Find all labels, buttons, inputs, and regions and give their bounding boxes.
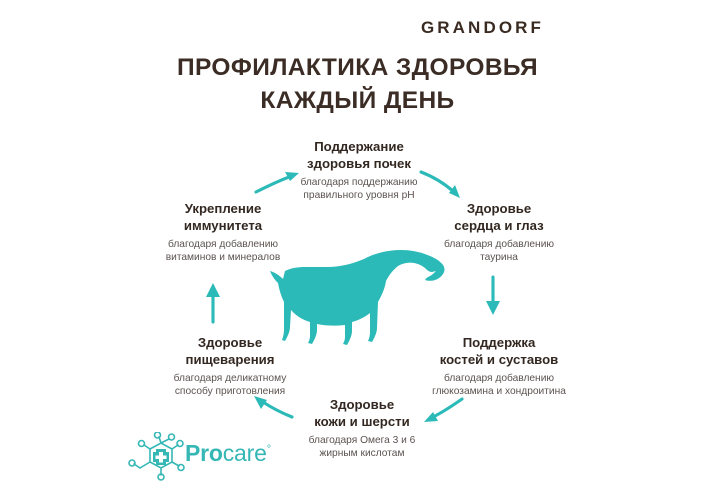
title-line-1: Поддержка bbox=[463, 335, 536, 350]
title-line-2: пищеварения bbox=[135, 351, 325, 368]
cycle-node-bones-joints: Поддержка костей и суставов благодаря до… bbox=[404, 334, 594, 399]
arrow-digestion-to-immunity bbox=[206, 283, 220, 322]
title-line-2: костей и суставов bbox=[404, 351, 594, 368]
procare-logo: Procare° bbox=[128, 432, 318, 482]
desc-line-2: витаминов и минералов bbox=[128, 251, 318, 265]
procare-word-care: care bbox=[223, 440, 267, 466]
title-line-1: Поддержание bbox=[314, 139, 404, 154]
desc-line-1: благодаря добавлению bbox=[444, 239, 554, 250]
cycle-node-bones-joints-description: благодаря добавлению глюкозамина и хондр… bbox=[404, 372, 594, 399]
cycle-node-heart-eyes-title: Здоровье сердца и глаз bbox=[409, 200, 589, 235]
cycle-node-immunity-description: благодаря добавлению витаминов и минерал… bbox=[128, 238, 318, 265]
procare-word-pro: Pro bbox=[185, 440, 223, 466]
title-line-1: Здоровье bbox=[198, 335, 262, 350]
desc-line-2: таурина bbox=[409, 251, 589, 265]
cycle-node-kidney-description: благодаря поддержанию правильного уровня… bbox=[259, 176, 459, 203]
procare-wordmark: Procare° bbox=[185, 442, 271, 465]
title-line-1: Здоровье bbox=[330, 397, 394, 412]
title-line-1: Здоровье bbox=[467, 201, 531, 216]
cycle-node-kidney: Поддержание здоровья почек благодаря под… bbox=[259, 138, 459, 203]
procare-degree-mark: ° bbox=[267, 443, 271, 455]
cycle-node-digestion-title: Здоровье пищеварения bbox=[135, 334, 325, 369]
cycle-node-kidney-title: Поддержание здоровья почек bbox=[259, 138, 459, 173]
cycle-node-heart-eyes-description: благодаря добавлению таурина bbox=[409, 238, 589, 265]
cycle-node-immunity-title: Укрепление иммунитета bbox=[128, 200, 318, 235]
desc-line-1: благодаря добавлению bbox=[168, 239, 278, 250]
cycle-node-heart-eyes: Здоровье сердца и глаз благодаря добавле… bbox=[409, 200, 589, 265]
desc-line-1: благодаря поддержанию bbox=[300, 177, 417, 188]
page-title-line-1: ПРОФИЛАКТИКА ЗДОРОВЬЯ bbox=[177, 54, 538, 81]
desc-line-1: благодаря добавлению bbox=[444, 373, 554, 384]
title-line-2: кожи и шерсти bbox=[262, 413, 462, 430]
cycle-node-immunity: Укрепление иммунитета благодаря добавлен… bbox=[128, 200, 318, 265]
cycle-node-bones-joints-title: Поддержка костей и суставов bbox=[404, 334, 594, 369]
title-line-2: здоровья почек bbox=[259, 155, 459, 172]
medical-cross-icon bbox=[153, 449, 169, 465]
desc-line-1: благодаря деликатному bbox=[174, 373, 287, 384]
cycle-node-skin-coat-title: Здоровье кожи и шерсти bbox=[262, 396, 462, 431]
title-line-2: сердца и глаз bbox=[409, 217, 589, 234]
cycle-node-digestion: Здоровье пищеварения благодаря деликатно… bbox=[135, 334, 325, 399]
desc-line-2: способу приготовления bbox=[135, 385, 325, 399]
grandorf-brand-logo: GRANDORF bbox=[0, 18, 715, 38]
title-line-2: иммунитета bbox=[128, 217, 318, 234]
desc-line-1: благодаря Омега 3 и 6 bbox=[309, 435, 416, 446]
page-title: ПРОФИЛАКТИКА ЗДОРОВЬЯ КАЖДЫЙ ДЕНЬ bbox=[0, 52, 715, 117]
procare-molecule-icon bbox=[128, 432, 190, 482]
infographic-canvas: GRANDORF ПРОФИЛАКТИКА ЗДОРОВЬЯ КАЖДЫЙ ДЕ… bbox=[0, 0, 715, 500]
cycle-node-digestion-description: благодаря деликатному способу приготовле… bbox=[135, 372, 325, 399]
arrow-heart-to-bones bbox=[486, 277, 500, 315]
title-line-1: Укрепление bbox=[185, 201, 262, 216]
page-title-line-2: КАЖДЫЙ ДЕНЬ bbox=[0, 85, 715, 118]
